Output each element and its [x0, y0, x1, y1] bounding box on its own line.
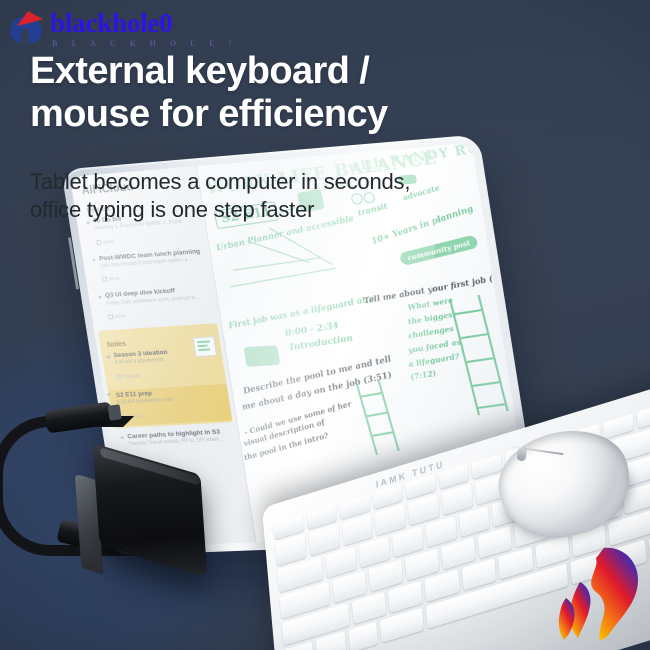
key-option[interactable] [348, 622, 378, 650]
flame-bird-watermark [552, 542, 644, 642]
note-photo-sketch [244, 345, 281, 367]
blackhole-mark-icon [8, 10, 46, 44]
flame-bird-icon [552, 542, 644, 642]
plug-tip-icon [108, 404, 122, 421]
logo-subtitle: B L A C K H O L E ! [52, 40, 237, 48]
note-challenge-line-5: a lifeguard? [407, 352, 460, 369]
key[interactable] [408, 494, 439, 525]
key[interactable] [375, 504, 406, 535]
unread-dot-icon [107, 356, 110, 359]
logo-wordmark: blackhole0 [50, 10, 237, 37]
list-item[interactable]: Season 3 ideation 8:38 AM 4 attachments … [108, 346, 221, 384]
usb-c-hub-assembly [0, 400, 300, 650]
promo-image-root: blackhole0 B L A C K H O L E ! External … [0, 0, 650, 650]
list-item-tag: Work [108, 314, 126, 320]
watermark-shape-main [591, 548, 638, 640]
note-map-line [230, 268, 335, 288]
list-item-tag: Work [96, 239, 114, 245]
subheadline-line-2: office typing is one step faster [30, 196, 570, 224]
unread-dot-icon [107, 394, 110, 397]
headline-line-2: mouse for efficiency [30, 93, 550, 136]
key[interactable] [392, 526, 423, 557]
key[interactable] [459, 506, 490, 537]
key[interactable] [342, 514, 373, 545]
unread-dot-icon [92, 259, 95, 262]
note-map-line [233, 257, 322, 271]
headline-line-1: External keyboard / [30, 50, 550, 93]
note-challenge-timecode: (7:12) [409, 369, 437, 382]
key[interactable] [308, 525, 339, 556]
list-item-tag: Work [102, 276, 120, 282]
key[interactable] [425, 516, 456, 547]
headline: External keyboard / mouse for efficiency [30, 50, 550, 137]
logo-notch-shape [21, 28, 29, 45]
note-map-line [247, 241, 310, 263]
list-item[interactable]: Post-WWDC team lunch planning Saturday R… [94, 248, 206, 288]
unread-dot-icon [98, 296, 101, 299]
list-item-tag: Podcast [117, 373, 140, 379]
key[interactable] [359, 536, 390, 567]
key[interactable] [441, 484, 472, 515]
note-ladder-sketch-small [356, 380, 400, 455]
list-item[interactable]: Q3 UI deep dive kickoff Friday Dark conf… [100, 286, 212, 325]
subheadline: Tablet becomes a computer in seconds, of… [30, 168, 570, 224]
brand-logo: blackhole0 B L A C K H O L E ! [8, 10, 237, 48]
note-challenge-line-3: challenges [407, 324, 455, 341]
subheadline-line-1: Tablet becomes a computer in seconds, [30, 168, 570, 196]
key[interactable] [325, 547, 356, 578]
note-community-post-pill: community post [399, 234, 480, 266]
